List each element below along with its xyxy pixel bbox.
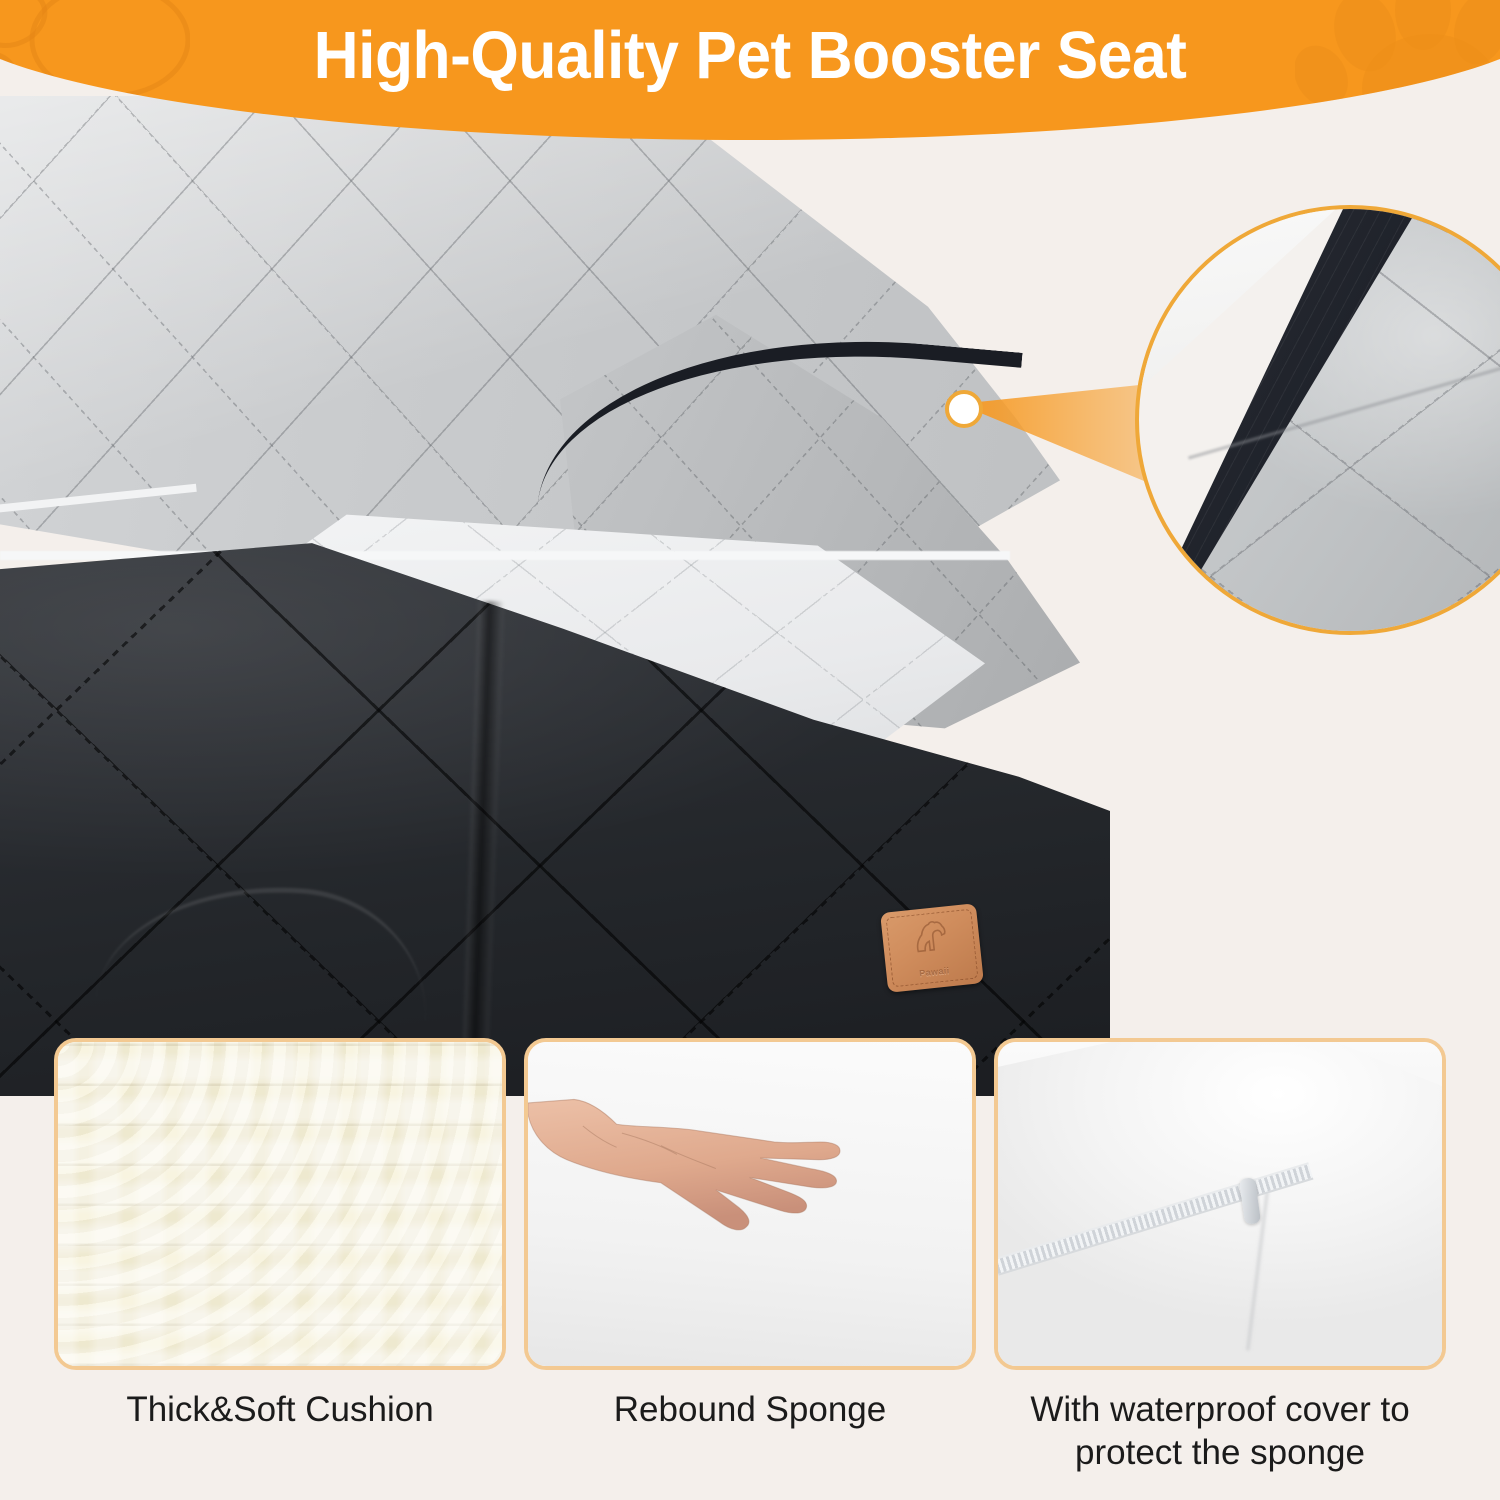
egg-crate-foam-photo (54, 1038, 506, 1370)
brand-logo-patch: Pawaii (880, 903, 984, 993)
feature-thumbnail-row: Thick&Soft Cushion (0, 1038, 1500, 1500)
foam-texture (58, 1042, 502, 1366)
waterproof-cover-surface (998, 1042, 1442, 1366)
feature-caption: Thick&Soft Cushion (54, 1389, 506, 1432)
feature-card-cushion[interactable]: Thick&Soft Cushion (54, 1038, 506, 1500)
hand-pressing-foam-photo (524, 1038, 976, 1370)
foam-surface (528, 1042, 972, 1366)
feature-card-waterproof[interactable]: With waterproof cover to protect the spo… (994, 1038, 1446, 1500)
magnifier-source-dot (945, 390, 983, 428)
page-title: High-Quality Pet Booster Seat (0, 22, 1500, 89)
infographic-canvas: Pawaii (0, 0, 1500, 1500)
feature-caption: With waterproof cover to protect the spo… (994, 1389, 1446, 1474)
fabric-detail-magnifier (1135, 205, 1500, 635)
dog-silhouette-icon (909, 918, 952, 956)
feature-card-sponge[interactable]: Rebound Sponge (524, 1038, 976, 1500)
white-zippered-cover-photo (994, 1038, 1446, 1370)
hero-product-photo: Pawaii (0, 96, 1150, 1096)
hand-icon (524, 1087, 928, 1255)
brand-name-text: Pawaii (886, 962, 983, 982)
feature-caption: Rebound Sponge (524, 1389, 976, 1432)
